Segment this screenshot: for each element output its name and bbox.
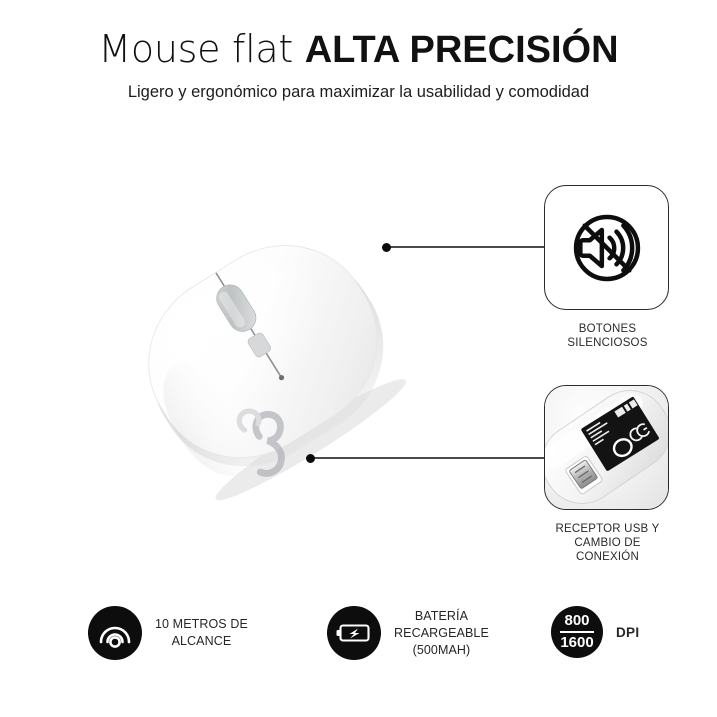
dpi-values: 800 1600 xyxy=(560,613,594,651)
feature-dpi-label: DPI xyxy=(616,624,639,641)
feature-row: 10 METROS DE ALCANCE BATERÍA RECARGEABLE… xyxy=(0,606,717,696)
page-title-light: Mouse flat xyxy=(98,27,304,71)
connector-dot-silent xyxy=(382,243,391,252)
connector-dot-usb xyxy=(306,454,315,463)
callout-usb-receiver: RECEPTOR USB Y CAMBIO DE CONEXIÓN xyxy=(544,385,671,564)
callout-box-usb xyxy=(544,385,669,510)
page-header: Mouse flat ALTA PRECISIÓN Ligero y ergon… xyxy=(0,26,717,103)
dpi-divider xyxy=(560,631,594,633)
callout-caption-silent: BOTONES SILENCIOSOS xyxy=(544,322,671,350)
usb-receiver-photo xyxy=(544,385,669,510)
callout-caption-usb: RECEPTOR USB Y CAMBIO DE CONEXIÓN xyxy=(544,522,671,564)
dpi-low-value: 1600 xyxy=(560,635,593,651)
feature-battery-label: BATERÍA RECARGEABLE (500MAH) xyxy=(394,608,489,659)
dpi-high-value: 800 xyxy=(564,613,589,629)
feature-range-badge xyxy=(88,606,142,660)
feature-range-label: 10 METROS DE ALCANCE xyxy=(155,616,248,650)
feature-range: 10 METROS DE ALCANCE xyxy=(88,606,248,660)
mouse-body-group xyxy=(114,211,423,511)
usb-receiver-illustration xyxy=(544,385,669,510)
connector-line-usb xyxy=(310,457,546,459)
mute-speaker-icon xyxy=(564,205,650,291)
infographic-canvas: Mouse flat ALTA PRECISIÓN Ligero y ergon… xyxy=(0,0,717,717)
feature-dpi: 800 1600 DPI xyxy=(551,606,639,658)
mouse-illustration xyxy=(55,150,475,550)
product-image-mouse xyxy=(55,150,475,550)
feature-battery-badge xyxy=(327,606,381,660)
feature-battery: BATERÍA RECARGEABLE (500MAH) xyxy=(327,606,489,660)
rechargeable-battery-icon xyxy=(336,622,372,644)
feature-dpi-badge: 800 1600 xyxy=(551,606,603,658)
callout-box-silent xyxy=(544,185,669,310)
connector-line-silent xyxy=(386,246,546,248)
page-subtitle: Ligero y ergonómico para maximizar la us… xyxy=(0,82,717,103)
wireless-signal-icon xyxy=(98,618,132,648)
page-title: Mouse flat ALTA PRECISIÓN xyxy=(0,26,717,73)
page-title-bold: ALTA PRECISIÓN xyxy=(305,29,619,71)
callout-silent-buttons: BOTONES SILENCIOSOS xyxy=(544,185,671,350)
